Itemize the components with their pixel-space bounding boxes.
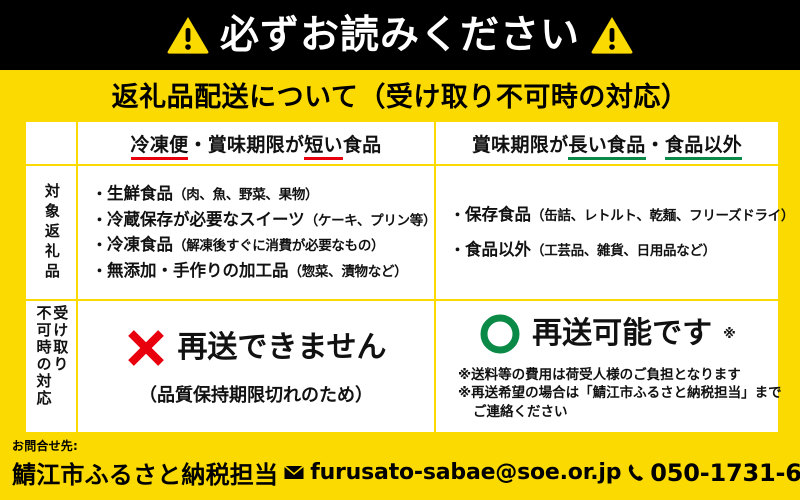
note-item: ※再送希望の場合は「鯖江市ふるさと納税担当」まで [458,384,772,402]
circle-mark-icon [478,312,522,356]
row-label-text: 対象返礼品 [43,183,59,283]
bullet-dot-icon: ・ [92,211,107,229]
contact-tel[interactable]: 050-1731-6099 [650,459,800,487]
list-item-paren: （惣菜、漬物など） [289,264,408,280]
list-item: ・冷蔵保存が必要なスイーツ（ケーキ、プリン等） [92,212,430,229]
phone-icon [627,463,644,482]
corner-blank-cell [25,121,77,165]
bullet-dot-icon: ・ [450,241,465,259]
list-item-paren: （工芸品、雑貨、日用品など） [531,243,716,259]
cross-mark-icon [125,327,167,369]
row-label-text-col2: 不可時の対応 [35,305,51,407]
note-item-continued: ご連絡ください [458,403,772,421]
list-item-paren: （ケーキ、プリン等） [305,213,436,229]
bullet-dot-icon: ・ [92,236,107,254]
resend-notes: ※送料等の費用は荷受人様のご負担となります ※再送希望の場合は「鯖江市ふるさと納… [442,366,772,421]
bullet-dot-icon: ・ [92,262,107,280]
resend-possible-text: 再送可能です [532,319,712,349]
list-item-paren: （肉、魚、野菜、果物） [173,187,318,203]
resend-not-possible-cell: 再送できません （品質保持期限切れのため） [77,300,435,433]
resend-possible-cell: 再送可能です※ ※送料等の費用は荷受人様のご負担となります ※再送希望の場合は「… [435,300,779,433]
list-item-main: 生鮮食品 [107,184,173,203]
warning-triangle-icon [166,15,210,55]
column-header-left-sep: ・賞味期限が [188,134,304,156]
column-header-left-part3: 食品 [343,134,382,156]
list-item-paren: （缶詰、レトルト、乾麺、フリーズドライ） [531,208,794,224]
table-row: 受け取り 不可時の対応 再送できません （品質保持期限切れのため） [25,300,779,433]
column-header-right-part1: 長い食品 [568,134,645,160]
list-item: ・生鮮食品（肉、魚、野菜、果物） [92,186,430,203]
subtitle-text: 返礼品配送について（受け取り不可時の対応） [112,75,689,114]
row-label-target-items: 対象返礼品 [25,165,77,300]
column-header-right-sep: ・ [646,134,665,156]
table-row: 対象返礼品 ・生鮮食品（肉、魚、野菜、果物） ・冷蔵保存が必要なスイーツ（ケーキ… [25,165,779,300]
list-item: ・無添加・手作りの加工品（惣菜、漬物など） [92,263,430,280]
footer-contact-bar: お問合せ先: 鯖江市ふるさと納税担当 furusato-sabae@soe.or… [0,434,800,500]
column-header-long-shelf-life: 賞味期限が長い食品・食品以外 [435,121,779,165]
header-banner: 必ずお読みください [0,0,800,70]
mail-icon [284,465,304,480]
column-header-right-pre: 賞味期限が [472,134,569,156]
info-table: 冷凍便・賞味期限が短い食品 賞味期限が長い食品・食品以外 対象返礼品 ・生鮮食品… [24,120,780,434]
target-items-right-list: ・保存食品（缶詰、レトルト、乾麺、フリーズドライ） ・食品以外（工芸品、雑貨、日… [435,165,779,300]
page-title: 必ずお読みください [220,16,580,55]
contact-label: お問合せ先: [12,439,788,453]
bullet-dot-icon: ・ [450,206,465,224]
info-table-wrapper: 冷凍便・賞味期限が短い食品 賞味期限が長い食品・食品以外 対象返礼品 ・生鮮食品… [22,118,778,434]
resend-not-possible-text: 再送できません [177,333,386,363]
row-label-undeliverable-response: 受け取り 不可時の対応 [25,300,77,433]
note-item: ※送料等の費用は荷受人様のご負担となります [458,366,772,384]
list-item: ・保存食品（缶詰、レトルト、乾麺、フリーズドライ） [450,207,774,224]
target-items-left-list: ・生鮮食品（肉、魚、野菜、果物） ・冷蔵保存が必要なスイーツ（ケーキ、プリン等）… [77,165,435,300]
column-header-right-part2: 食品以外 [665,134,742,160]
list-item: ・食品以外（工芸品、雑貨、日用品など） [450,242,774,259]
contact-details: 鯖江市ふるさと納税担当 furusato-sabae@soe.or.jp 050… [12,455,788,490]
list-item-main: 無添加・手作りの加工品 [107,261,289,280]
subtitle-banner: 返礼品配送について（受け取り不可時の対応） [0,70,800,118]
contact-email[interactable]: furusato-sabae@soe.or.jp [310,460,621,485]
resend-possible-asterisk: ※ [723,327,736,342]
table-header-row: 冷凍便・賞味期限が短い食品 賞味期限が長い食品・食品以外 [25,121,779,165]
list-item-main: 保存食品 [465,205,531,224]
column-header-left-part1: 冷凍便 [131,134,189,160]
warning-triangle-icon [590,15,634,55]
list-item-paren: （解凍後すぐに消費が必要なもの） [173,238,384,254]
bullet-dot-icon: ・ [92,185,107,203]
list-item-main: 冷蔵保存が必要なスイーツ [107,210,305,229]
resend-not-possible-reason: （品質保持期限切れのため） [84,381,428,407]
column-header-short-shelf-life: 冷凍便・賞味期限が短い食品 [77,121,435,165]
list-item-main: 食品以外 [465,240,531,259]
row-label-text-col1: 受け取り [52,305,68,373]
contact-department: 鯖江市ふるさと納税担当 [12,455,278,490]
notice-page: 必ずお読みください 返礼品配送について（受け取り不可時の対応） 冷凍便・賞味期限… [0,0,800,500]
column-header-left-part2: 短い [304,134,343,160]
list-item-main: 冷凍食品 [107,235,173,254]
list-item: ・冷凍食品（解凍後すぐに消費が必要なもの） [92,237,430,254]
